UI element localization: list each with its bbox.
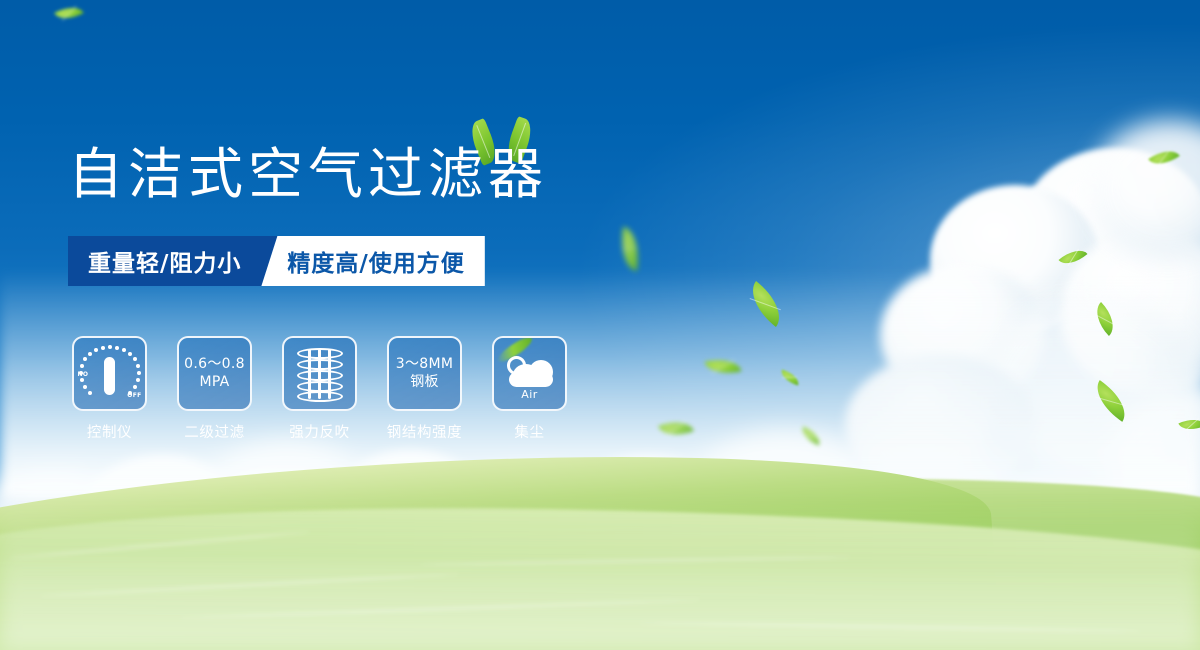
feature-label: 控制仪: [87, 421, 132, 442]
cloud-graphic: Air: [501, 350, 559, 398]
steel-value-line1: 3～8MM: [396, 356, 453, 374]
pressure-value-line1: 0.6～0.8: [184, 356, 245, 374]
promo-banner: 自洁式空气过滤器 重量轻/阻力小 精度高/使用方便: [0, 0, 1200, 650]
feature-label: 二级过滤: [184, 421, 244, 442]
feature-item-steel[interactable]: 3～8MM 钢板 钢结构强度: [387, 336, 462, 442]
subtitle-ribbon: 重量轻/阻力小 精度高/使用方便: [68, 236, 485, 286]
dial-label-off: OFF: [127, 392, 141, 399]
pressure-text-icon: 0.6～0.8 MPA: [177, 336, 252, 411]
feature-item-dustcollect[interactable]: Air 集尘: [492, 336, 567, 442]
subtitle-right-tag: 精度高/使用方便: [261, 236, 484, 286]
feature-list: NO OFF 控制仪 0.6～0.8 MPA 二级过滤: [72, 336, 567, 442]
steel-plate-text-icon: 3～8MM 钢板: [387, 336, 462, 411]
stacked-discs-icon: [282, 336, 357, 411]
feature-label: 钢结构强度: [387, 421, 463, 442]
dial-gauge-icon: NO OFF: [72, 336, 147, 411]
air-label: Air: [501, 388, 559, 401]
feature-item-controller[interactable]: NO OFF 控制仪: [72, 336, 147, 442]
subtitle-left-tag: 重量轻/阻力小: [68, 236, 277, 286]
page-title: 自洁式空气过滤器: [68, 146, 548, 204]
grass-field: [0, 420, 1200, 650]
dial-label-no: NO: [78, 371, 89, 378]
pressure-value-line2: MPA: [199, 374, 229, 392]
feature-label: 集尘: [514, 421, 544, 442]
feature-label: 强力反吹: [289, 421, 349, 442]
feature-item-filtration[interactable]: 0.6～0.8 MPA 二级过滤: [177, 336, 252, 442]
cloud-air-icon: Air: [492, 336, 567, 411]
steel-value-line2: 钢板: [410, 374, 439, 392]
dial-graphic: NO OFF: [79, 343, 141, 405]
feature-item-backblow[interactable]: 强力反吹: [282, 336, 357, 442]
discs-graphic: [294, 346, 346, 402]
